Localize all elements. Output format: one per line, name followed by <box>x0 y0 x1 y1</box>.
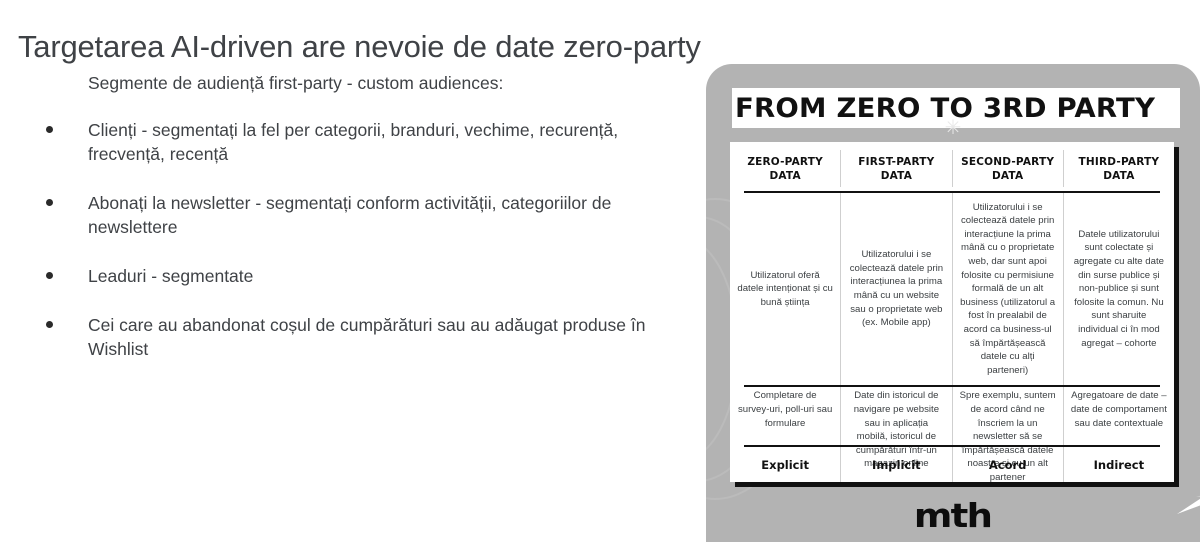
list-item-label: Leaduri - segmentate <box>88 266 253 286</box>
table-row: Utilizatorul oferă datele intenționat și… <box>730 193 1174 386</box>
lead-paragraph: Segmente de audiență first-party - custo… <box>88 72 680 96</box>
list-item: Clienți - segmentați la fel per categori… <box>40 118 680 166</box>
column-header-zero-party: ZERO-PARTY DATA <box>730 150 841 187</box>
table-row: Completare de survey-uri, poll-uri sau f… <box>730 387 1174 445</box>
data-table: ZERO-PARTY DATA FIRST-PARTY DATA SECOND-… <box>730 142 1174 482</box>
column-header-first-party: FIRST-PARTY DATA <box>841 150 952 187</box>
list-item-label: Cei care au abandonat coșul de cumpărătu… <box>88 315 645 359</box>
list-item-label: Abonați la newsletter - segmentați confo… <box>88 193 611 237</box>
bullet-list: Clienți - segmentați la fel per categori… <box>40 118 680 362</box>
swoosh-icon <box>1176 493 1200 515</box>
cell-label-explicit: Explicit <box>730 447 841 482</box>
slide-body: Segmente de audiență first-party - custo… <box>40 72 680 387</box>
list-item-label: Clienți - segmentați la fel per categori… <box>88 120 618 164</box>
page-title: Targetarea AI-driven are nevoie de date … <box>18 29 701 65</box>
table-header-row: ZERO-PARTY DATA FIRST-PARTY DATA SECOND-… <box>730 142 1174 187</box>
infographic-card: FROM ZERO TO 3RD PARTY ✳ ZERO-PARTY DATA… <box>706 64 1200 542</box>
cell-definition-second-party: Utilizatorului i se colectează datele pr… <box>953 193 1064 386</box>
bullet-dot-icon <box>46 321 53 328</box>
logo-wordmark: mth <box>914 499 991 532</box>
cell-definition-zero-party: Utilizatorul oferă datele intenționat și… <box>730 193 841 386</box>
cell-definition-third-party: Datele utilizatorului sunt colectate și … <box>1064 193 1174 386</box>
brand-logo: mth <box>706 499 1200 532</box>
cell-example-third-party: Agregatoare de date – date de comportame… <box>1064 387 1174 445</box>
cell-example-zero-party: Completare de survey-uri, poll-uri sau f… <box>730 387 841 445</box>
asterisk-icon: ✳ <box>706 118 1200 138</box>
cell-label-implicit: Implicit <box>841 447 952 482</box>
list-item: Cei care au abandonat coșul de cumpărătu… <box>40 313 680 361</box>
bullet-dot-icon <box>46 199 53 206</box>
table-footer-row: Explicit Implicit Acord Indirect <box>730 447 1174 482</box>
cell-definition-first-party: Utilizatorului i se colectează datele pr… <box>841 193 952 386</box>
cell-label-acord: Acord <box>953 447 1064 482</box>
cell-example-second-party: Spre exemplu, suntem de acord când ne în… <box>953 387 1064 445</box>
list-item: Leaduri - segmentate <box>40 264 680 288</box>
list-item: Abonați la newsletter - segmentați confo… <box>40 191 680 239</box>
column-header-second-party: SECOND-PARTY DATA <box>953 150 1064 187</box>
cell-label-indirect: Indirect <box>1064 447 1174 482</box>
bullet-dot-icon <box>46 272 53 279</box>
column-header-third-party: THIRD-PARTY DATA <box>1064 150 1174 187</box>
bullet-dot-icon <box>46 126 53 133</box>
cell-example-first-party: Date din istoricul de navigare pe websit… <box>841 387 952 445</box>
